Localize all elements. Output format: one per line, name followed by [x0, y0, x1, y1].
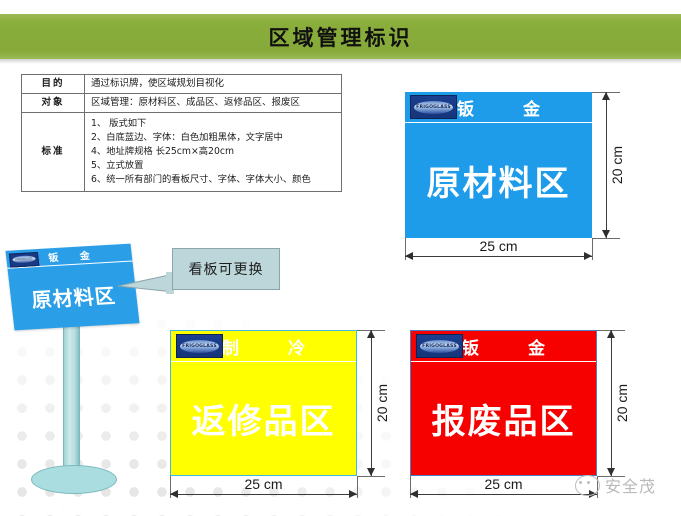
- sign-body-text-blue: 原材料区: [427, 156, 571, 205]
- dimension-label-height-blue: 20 cm: [609, 140, 625, 190]
- sign-board-yellow: FRIGOGLASS 制 冷 返修品区: [170, 330, 357, 476]
- company-logo-icon: FRIGOGLASS: [176, 334, 223, 358]
- sign-header-text-yellow: 制 冷: [206, 334, 321, 359]
- sign-body-text-yellow: 返修品区: [192, 394, 336, 443]
- dimension-line-horizontal-blue: [405, 256, 592, 257]
- table-row: 目的 通过标识牌，使区域规划目视化: [22, 75, 342, 94]
- arrow-up-icon: [602, 92, 610, 100]
- sign-base: [31, 465, 117, 494]
- dimension-line-horizontal-yellow: [170, 494, 357, 495]
- company-logo-icon: FRIGOGLASS: [9, 251, 40, 267]
- list-item: 6、统一所有部门的看板尺寸、字体、字体大小、颜色: [91, 173, 335, 187]
- spec-table: 目的 通过标识牌，使区域规划目视化 对象 区域管理：原材料区、成品区、返修品区、…: [21, 74, 342, 192]
- sign-body-blue: 原材料区: [405, 123, 592, 237]
- arrow-up-icon: [367, 330, 375, 338]
- dimension-line-vertical-blue: [606, 92, 607, 238]
- watermark: 安全茂: [575, 468, 677, 502]
- dimension-line-vertical-yellow: [371, 330, 372, 476]
- list-item: 1、 版式如下: [91, 117, 335, 131]
- list-item: 2、白底蓝边、字体：白色加粗黑体，文字居中: [91, 131, 335, 145]
- dimension-label-height-red: 20 cm: [614, 378, 630, 428]
- spec-value-standard: 1、 版式如下 2、白底蓝边、字体：白色加粗黑体，文字居中 4、地址牌规格 长2…: [85, 112, 342, 191]
- dimension-label-width-red: 25 cm: [410, 476, 597, 492]
- company-logo-icon: FRIGOGLASS: [410, 95, 457, 119]
- arrow-up-icon: [607, 330, 615, 338]
- sign-body-yellow: 返修品区: [171, 362, 356, 474]
- sign-board-blue: FRIGOGLASS 钣 金 原材料区: [405, 92, 592, 238]
- callout-box: 看板可更换: [172, 248, 280, 290]
- table-row: 标准 1、 版式如下 2、白底蓝边、字体：白色加粗黑体，文字居中 4、地址牌规格…: [22, 112, 342, 191]
- watermark-text: 安全茂: [605, 473, 656, 497]
- arrow-down-icon: [602, 230, 610, 238]
- dimension-label-height-yellow: 20 cm: [374, 378, 390, 428]
- standing-sign-header-text: 钣 金: [38, 247, 99, 265]
- page-title: 区域管理标识: [0, 14, 681, 59]
- slide-canvas: 区域管理标识 目的 通过标识牌，使区域规划目视化 对象 区域管理：原材料区、成品…: [0, 0, 681, 516]
- sign-pole: [63, 301, 80, 483]
- sign-header-red: FRIGOGLASS 钣 金: [411, 331, 596, 362]
- dimension-line-horizontal-red: [410, 494, 597, 495]
- spec-label-standard: 标准: [22, 112, 85, 191]
- list-item: 5、立式放置: [91, 159, 335, 173]
- sign-header-yellow: FRIGOGLASS 制 冷: [171, 331, 356, 362]
- spec-label-object: 对象: [22, 93, 85, 112]
- spec-label-purpose: 目的: [22, 75, 85, 94]
- extension-line: [592, 238, 620, 239]
- extension-line: [357, 476, 358, 498]
- sign-body-text-red: 报废品区: [432, 394, 576, 443]
- callout-tail: [118, 272, 174, 294]
- standard-list: 1、 版式如下 2、白底蓝边、字体：白色加粗黑体，文字居中 4、地址牌规格 长2…: [91, 117, 335, 187]
- sign-header-blue: FRIGOGLASS 钣 金: [405, 92, 592, 123]
- spec-value-purpose: 通过标识牌，使区域规划目视化: [85, 75, 342, 94]
- extension-line: [592, 238, 593, 260]
- standing-sign-body-text: 原材料区: [30, 279, 117, 313]
- sign-board-red: FRIGOGLASS 钣 金 报废品区: [410, 330, 597, 476]
- sign-body-red: 报废品区: [411, 362, 596, 474]
- logo-oval-label: FRIGOGLASS: [12, 255, 36, 263]
- sign-header-text-red: 钣 金: [446, 334, 561, 359]
- logo-oval-label: FRIGOGLASS: [414, 101, 453, 114]
- extension-line: [357, 476, 385, 477]
- spec-value-object: 区域管理：原材料区、成品区、返修品区、报废区: [85, 93, 342, 112]
- callout-text: 看板可更换: [189, 259, 264, 279]
- dimension-label-width-yellow: 25 cm: [170, 476, 357, 492]
- table-row: 对象 区域管理：原材料区、成品区、返修品区、报废区: [22, 93, 342, 112]
- logo-oval-label: FRIGOGLASS: [420, 340, 459, 353]
- company-logo-icon: FRIGOGLASS: [416, 334, 463, 358]
- list-item: 4、地址牌规格 长25cm×高20cm: [91, 145, 335, 159]
- arrow-down-icon: [367, 468, 375, 476]
- dimension-line-vertical-red: [611, 330, 612, 476]
- header-banner: 区域管理标识: [0, 14, 681, 59]
- banner-shadow: [0, 59, 681, 64]
- chat-bubble-icon: [575, 475, 600, 496]
- dimension-label-width-blue: 25 cm: [405, 238, 592, 254]
- logo-oval-label: FRIGOGLASS: [180, 340, 219, 353]
- sign-header-text-blue: 钣 金: [441, 95, 556, 120]
